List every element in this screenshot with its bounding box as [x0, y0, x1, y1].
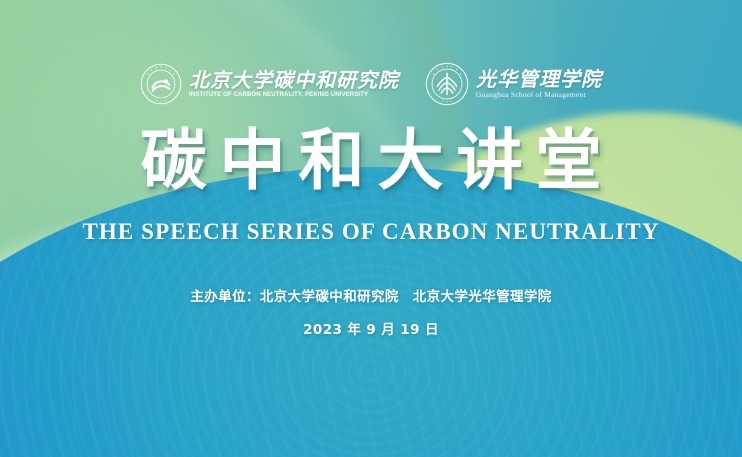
peking-university-seal-icon	[425, 62, 469, 106]
institute-of-carbon-neutrality-seal-icon	[140, 63, 182, 105]
main-title-english: THE SPEECH SERIES OF CARBON NEUTRALITY	[0, 220, 742, 243]
logo-en-label: Guanghua School of Management	[476, 91, 602, 99]
logo-cn-label: 北京大学碳中和研究院	[189, 70, 399, 91]
logo-cn-label: 光华管理学院	[476, 69, 602, 90]
logo-guanghua-school: 光华管理学院 Guanghua School of Management	[425, 62, 602, 106]
poster-canvas: 北京大学碳中和研究院 INSTITUTE OF CARBON NEUTRALIT…	[0, 0, 742, 457]
logo-text-block: 北京大学碳中和研究院 INSTITUTE OF CARBON NEUTRALIT…	[189, 70, 399, 99]
main-title-chinese: 碳中和大讲堂	[0, 128, 742, 194]
logo-carbon-neutrality-institute: 北京大学碳中和研究院 INSTITUTE OF CARBON NEUTRALIT…	[140, 63, 399, 105]
organizer-line: 主办单位：北京大学碳中和研究院 北京大学光华管理学院	[0, 285, 742, 305]
logo-text-block: 光华管理学院 Guanghua School of Management	[476, 69, 602, 99]
event-date: 2023 年 9 月 19 日	[0, 318, 742, 338]
logo-row: 北京大学碳中和研究院 INSTITUTE OF CARBON NEUTRALIT…	[0, 62, 742, 106]
logo-en-label: INSTITUTE OF CARBON NEUTRALITY, PEKING U…	[189, 92, 393, 99]
poster-content: 北京大学碳中和研究院 INSTITUTE OF CARBON NEUTRALIT…	[0, 0, 742, 457]
